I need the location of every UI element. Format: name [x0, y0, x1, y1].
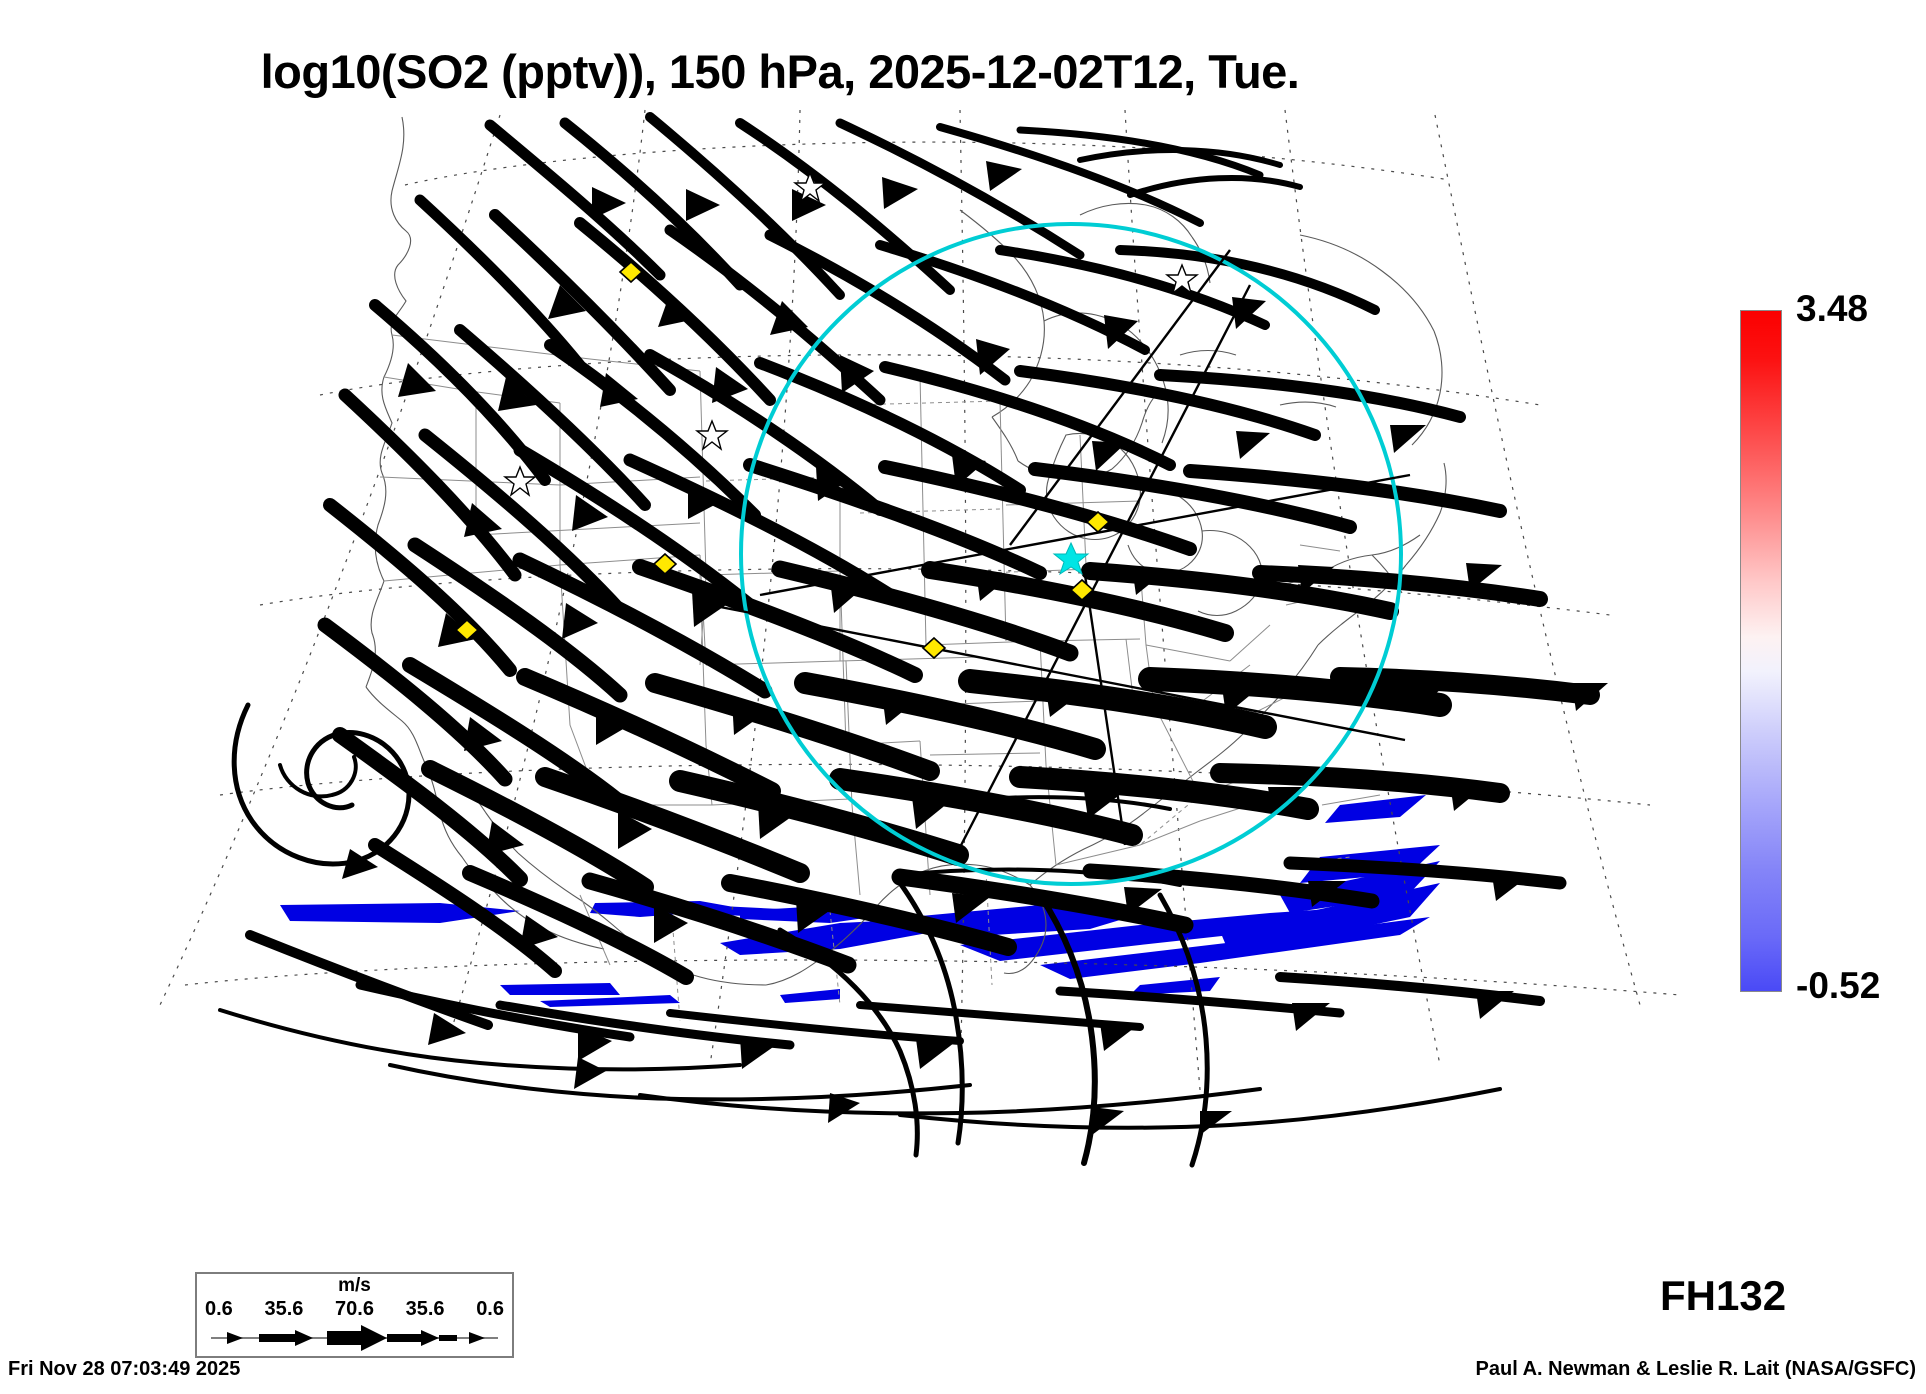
wind-value-4: 0.6 [476, 1298, 504, 1321]
map-panel[interactable] [140, 105, 1700, 1235]
wind-legend-arrow-scale [197, 1322, 512, 1354]
wind-legend-values: 0.6 35.6 70.6 35.6 0.6 [197, 1298, 512, 1321]
colorbar[interactable]: 3.48 -0.52 [1740, 310, 1920, 1000]
city-star-2 [505, 467, 535, 495]
wind-legend-units-label: m/s [197, 1275, 512, 1297]
forecast-hour-label: FH132 [1660, 1272, 1786, 1320]
streamline-layer [220, 117, 1608, 1165]
wind-value-0: 0.6 [205, 1298, 233, 1321]
wind-value-2: 70.6 [335, 1298, 374, 1321]
generation-timestamp: Fri Nov 28 07:03:49 2025 [8, 1358, 240, 1381]
map-canvas[interactable] [140, 105, 1700, 1235]
colorbar-gradient[interactable] [1740, 310, 1782, 992]
wind-speed-legend: m/s 0.6 35.6 70.6 35.6 0.6 [195, 1272, 514, 1358]
wind-value-1: 35.6 [264, 1298, 303, 1321]
colorbar-max-label: 3.48 [1796, 288, 1868, 330]
page-title: log10(SO2 (pptv)), 150 hPa, 2025-12-02T1… [0, 44, 1560, 99]
credit-line: Paul A. Newman & Leslie R. Lait (NASA/GS… [1476, 1358, 1916, 1381]
colorbar-min-label: -0.52 [1796, 965, 1880, 1007]
wind-value-3: 35.6 [406, 1298, 445, 1321]
